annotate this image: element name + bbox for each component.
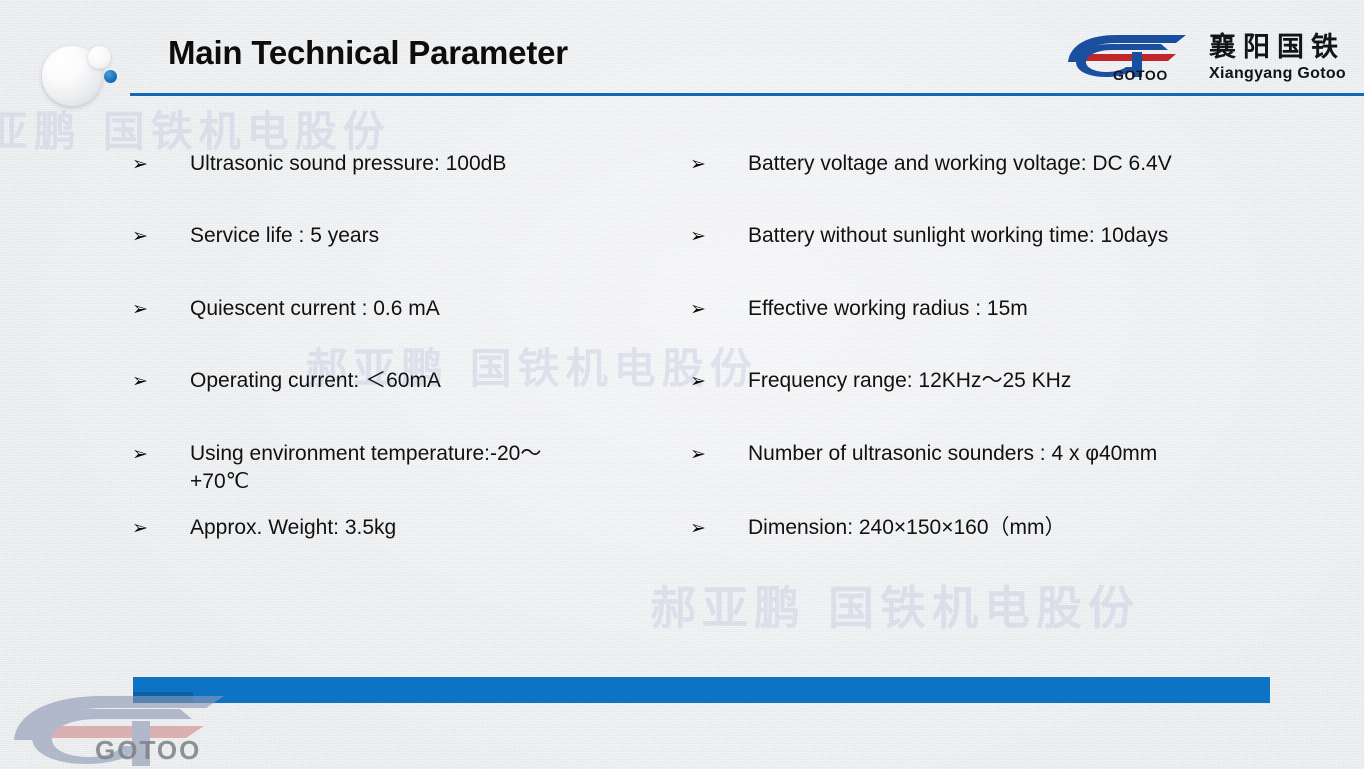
slide-canvas: 亚鹏 国铁机电股份 郝亚鹏 国铁机电股份 郝亚鹏 国铁机电股份 Main Tec… [0, 0, 1364, 769]
header-divider-rule [130, 93, 1364, 96]
page-title: Main Technical Parameter [168, 34, 568, 72]
bullet-arrow-icon: ➢ [128, 295, 190, 323]
bullet-arrow-icon: ➢ [686, 367, 748, 395]
bullet-arrow-icon: ➢ [128, 440, 190, 468]
parameter-item: ➢Approx. Weight: 3.5kg [128, 514, 396, 542]
brand-english-name: Xiangyang Gotoo [1209, 66, 1346, 82]
parameter-item: ➢Quiescent current : 0.6 mA [128, 295, 440, 323]
parameter-item: ➢Using environment temperature:-20～ +70℃ [128, 440, 541, 496]
parameter-item-label: Battery without sunlight working time: 1… [748, 222, 1168, 250]
parameter-item-label: Dimension: 240×150×160（mm） [748, 514, 1066, 542]
bullet-arrow-icon: ➢ [128, 367, 190, 395]
parameter-item-label: Using environment temperature:-20～ +70℃ [190, 440, 541, 496]
bullet-arrow-icon: ➢ [128, 150, 190, 178]
parameter-item-label: Battery voltage and working voltage: DC … [748, 150, 1172, 178]
watermark-bottom: 郝亚鹏 国铁机电股份 [650, 572, 1140, 638]
parameter-item-label: Number of ultrasonic sounders : 4 x φ40m… [748, 440, 1157, 468]
parameter-item: ➢Service life : 5 years [128, 222, 379, 250]
parameter-item: ➢Operating current: ＜60mA [128, 367, 441, 395]
parameter-item: ➢Battery without sunlight working time: … [686, 222, 1168, 250]
bullet-arrow-icon: ➢ [686, 150, 748, 178]
decorative-blue-dot-icon [104, 70, 117, 83]
brand-chinese-name: 襄阳国铁 [1209, 34, 1345, 61]
parameter-item-label: Approx. Weight: 3.5kg [190, 514, 396, 542]
parameter-item: ➢Effective working radius : 15m [686, 295, 1028, 323]
parameter-item: ➢Ultrasonic sound pressure: 100dB [128, 150, 506, 178]
bottom-accent-bar [133, 677, 1270, 703]
bullet-arrow-icon: ➢ [686, 514, 748, 542]
parameter-item-label: Effective working radius : 15m [748, 295, 1028, 323]
brand-mark-wrap: GOTOO [1064, 32, 1196, 84]
parameter-item-label: Quiescent current : 0.6 mA [190, 295, 440, 323]
parameter-item: ➢Frequency range: 12KHz～25 KHz [686, 367, 1071, 395]
bullet-arrow-icon: ➢ [686, 440, 748, 468]
parameter-item-label: Frequency range: 12KHz～25 KHz [748, 367, 1071, 395]
parameter-item: ➢Battery voltage and working voltage: DC… [686, 150, 1172, 178]
brand-logo: GOTOO 襄阳国铁 Xiangyang Gotoo [1064, 32, 1346, 84]
parameter-item: ➢Number of ultrasonic sounders : 4 x φ40… [686, 440, 1157, 468]
bullet-arrow-icon: ➢ [686, 295, 748, 323]
parameter-item-label: Operating current: ＜60mA [190, 367, 441, 395]
decorative-small-circle [88, 46, 111, 69]
bullet-arrow-icon: ➢ [128, 514, 190, 542]
parameter-item: ➢Dimension: 240×150×160（mm） [686, 514, 1066, 542]
bullet-arrow-icon: ➢ [128, 222, 190, 250]
footer-brand-text: GOTOO [95, 735, 201, 766]
bullet-arrow-icon: ➢ [686, 222, 748, 250]
brand-name-block: 襄阳国铁 Xiangyang Gotoo [1209, 34, 1346, 82]
bottom-accent-bar-tail [133, 692, 193, 703]
parameter-item-label: Service life : 5 years [190, 222, 379, 250]
brand-mark-text: GOTOO [1113, 67, 1168, 83]
parameter-item-label: Ultrasonic sound pressure: 100dB [190, 150, 506, 178]
